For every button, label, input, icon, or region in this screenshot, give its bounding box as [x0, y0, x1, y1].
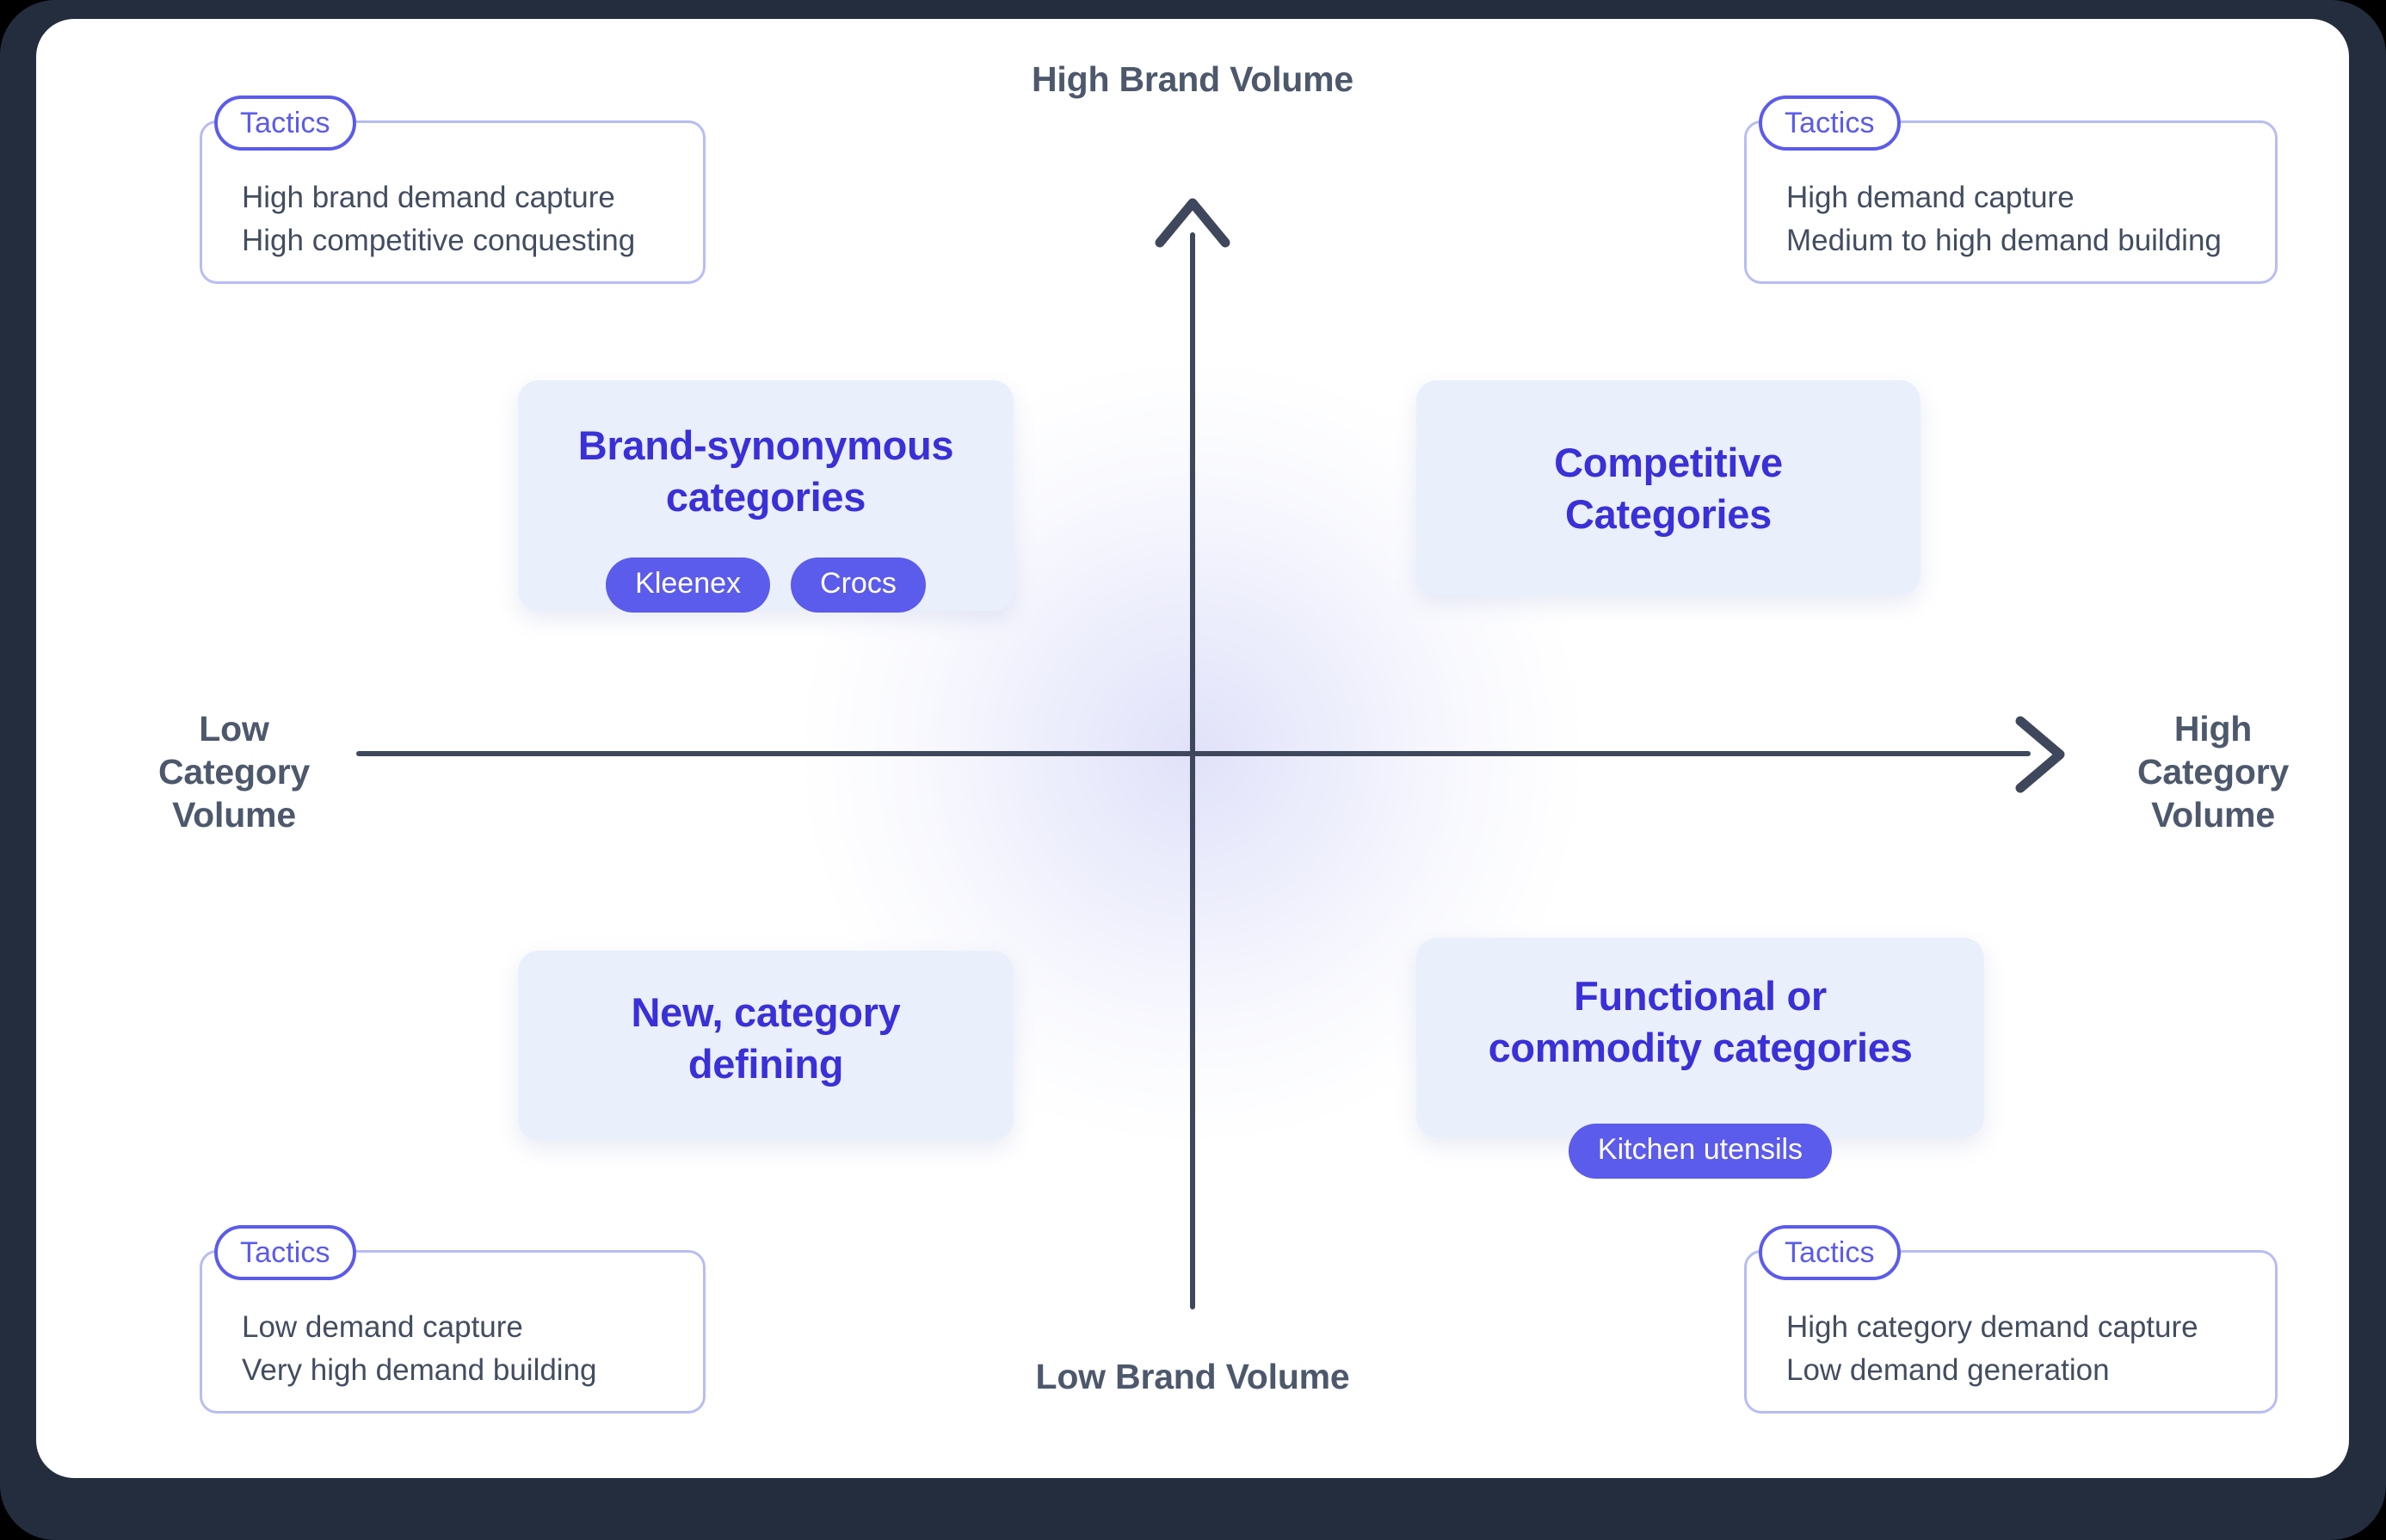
- tactics-line: High demand capture: [1786, 176, 2222, 219]
- quadrant-title: Functional or commodity categories: [1464, 970, 1937, 1073]
- quadrant-title-line: New, category: [631, 987, 900, 1038]
- quadrant-title: New, category defining: [607, 987, 924, 1089]
- tactics-content: High demand capture Medium to high deman…: [1786, 176, 2222, 262]
- tactics-line: High category demand capture: [1786, 1306, 2198, 1349]
- tactics-box-bottom-left: Tactics Low demand capture Very high dem…: [200, 1250, 706, 1414]
- axis-label-high-category-volume: High Category Volume: [2032, 707, 2349, 836]
- quadrant-pill-row: Kitchen utensils: [1416, 1124, 1984, 1179]
- tactics-line: Low demand generation: [1786, 1349, 2198, 1392]
- axis-label-line: Category: [53, 750, 415, 793]
- quadrant-title-line: defining: [631, 1038, 900, 1090]
- tactics-box-top-left: Tactics High brand demand capture High c…: [200, 120, 706, 284]
- axis-label-line: Low: [53, 707, 415, 750]
- quadrant-title-line: Competitive: [1554, 437, 1783, 489]
- quadrant-title-line: Categories: [1554, 489, 1783, 540]
- outer-frame: High Brand Volume Low Brand Volume Low C…: [0, 0, 2386, 1540]
- tactics-tab-label: Tactics: [214, 95, 356, 151]
- tactics-line: High brand demand capture: [242, 176, 635, 219]
- quadrant-title: Competitive Categories: [1530, 437, 1807, 539]
- tactics-line: High competitive conquesting: [242, 219, 635, 262]
- quadrant-title-line: commodity categories: [1489, 1022, 1913, 1074]
- tactics-content: Low demand capture Very high demand buil…: [242, 1306, 597, 1391]
- quadrant-card-bottom-left[interactable]: New, category defining: [518, 951, 1014, 1140]
- example-pill[interactable]: Kleenex: [606, 557, 770, 613]
- quadrant-title-line: Brand-synonymous: [578, 420, 954, 471]
- quadrant-card-top-left[interactable]: Brand-synonymous categories Kleenex Croc…: [518, 380, 1014, 611]
- quadrant-title-line: Functional or: [1489, 970, 1913, 1022]
- horizontal-axis: [356, 751, 2031, 756]
- tactics-content: High category demand capture Low demand …: [1786, 1306, 2198, 1391]
- axis-label-low-category-volume: Low Category Volume: [53, 707, 415, 836]
- example-pill[interactable]: Crocs: [791, 557, 926, 613]
- tactics-box-bottom-right: Tactics High category demand capture Low…: [1744, 1250, 2278, 1414]
- axis-label-line: Volume: [53, 793, 415, 836]
- matrix-canvas: High Brand Volume Low Brand Volume Low C…: [36, 19, 2349, 1478]
- quadrant-pill-row: Kleenex Crocs: [518, 557, 1014, 613]
- tactics-tab-label: Tactics: [1759, 95, 1901, 151]
- tactics-box-top-right: Tactics High demand capture Medium to hi…: [1744, 120, 2278, 284]
- quadrant-title: Brand-synonymous categories: [554, 420, 978, 522]
- axis-label-line: Category: [2032, 750, 2349, 793]
- tactics-line: Low demand capture: [242, 1306, 597, 1349]
- quadrant-card-top-right[interactable]: Competitive Categories: [1416, 380, 1921, 595]
- axis-arrow-up-icon: [1151, 191, 1234, 251]
- tactics-line: Medium to high demand building: [1786, 219, 2222, 262]
- quadrant-title-line: categories: [578, 471, 954, 523]
- axis-label-low-brand-volume: Low Brand Volume: [909, 1355, 1477, 1398]
- vertical-axis: [1190, 232, 1195, 1309]
- tactics-tab-label: Tactics: [1759, 1225, 1901, 1280]
- axis-label-line: Volume: [2032, 793, 2349, 836]
- quadrant-card-bottom-right[interactable]: Functional or commodity categories Kitch…: [1416, 938, 1984, 1137]
- axis-label-line: High: [2032, 707, 2349, 750]
- tactics-line: Very high demand building: [242, 1349, 597, 1392]
- axis-label-high-brand-volume: High Brand Volume: [909, 58, 1477, 101]
- tactics-content: High brand demand capture High competiti…: [242, 176, 635, 262]
- example-pill[interactable]: Kitchen utensils: [1569, 1124, 1832, 1179]
- tactics-tab-label: Tactics: [214, 1225, 356, 1280]
